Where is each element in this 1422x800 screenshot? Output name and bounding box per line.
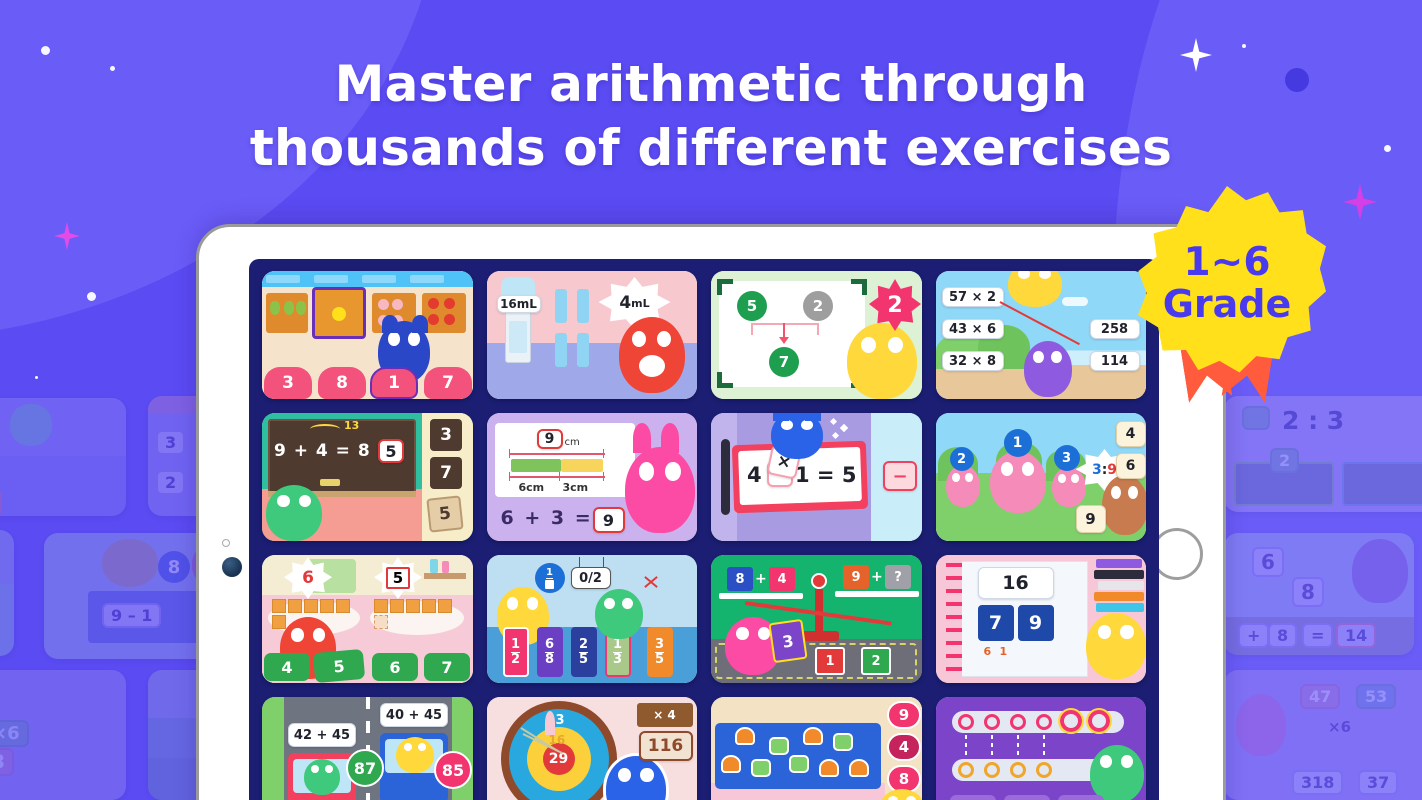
bg-card-chip: 2	[156, 470, 185, 495]
tile-5-dragged[interactable]: 5	[426, 495, 463, 532]
character-chick-glasses	[1086, 613, 1146, 679]
page-title: Master arithmetic through thousands of d…	[0, 52, 1422, 180]
exercise-card-balance[interactable]: 8 + 4 9 + ? 3 1 2	[711, 555, 922, 683]
exercise-card-multiply-fish[interactable]: 57 × 2 43 × 6 32 × 8 258 114	[936, 271, 1147, 399]
score-85: 85	[434, 751, 472, 789]
exercise-card-plate-blocks[interactable]: 6 5 4 5 6	[262, 555, 473, 683]
bg-card-chip: 3	[156, 430, 185, 455]
weight-8: 8	[727, 567, 753, 591]
tile-3[interactable]: 3	[430, 419, 462, 451]
bg-card-chip: 14	[1336, 623, 1376, 648]
ring-bottom	[958, 762, 974, 778]
exercise-card-blackboard[interactable]: 13 9 + 4 = 8 + 5 3 7 5	[262, 413, 473, 541]
badge-grade-range: 1~6	[1184, 242, 1271, 283]
weight-4: 4	[769, 567, 795, 591]
bg-card-chip	[1242, 406, 1270, 430]
coin-purse-3[interactable]: 3	[264, 367, 312, 399]
length-total-9: 9	[537, 429, 563, 449]
exercise-card-shop-coins[interactable]: 3 8 1 7	[262, 271, 473, 399]
bg-card: 6 8 + 8 = 14	[1224, 533, 1414, 655]
option-7[interactable]: 7	[424, 653, 470, 681]
marker-1: 1	[1004, 429, 1032, 457]
exercise-card-water-ml[interactable]: 16mL 4mL	[487, 271, 698, 399]
ring-bottom	[984, 762, 1000, 778]
monster-big-center	[990, 451, 1046, 513]
fraction-indicator: 1	[535, 563, 565, 593]
character-frog	[1090, 745, 1144, 800]
character-cat-purple	[1024, 341, 1072, 397]
exercise-card-rings[interactable]	[936, 697, 1147, 800]
exercise-card-darts[interactable]: 29 13 16 × 4 116	[487, 697, 698, 800]
bg-card-chip: 8	[1292, 577, 1324, 607]
badge-grade-label: Grade	[1163, 284, 1292, 324]
monster-small-left	[946, 465, 980, 507]
bottle-2-5[interactable]: 25	[571, 627, 597, 677]
bottle-3-5[interactable]: 35	[647, 627, 673, 677]
score-87: 87	[346, 749, 384, 787]
tablet-screen: 3 8 1 7 16mL 4mL	[249, 259, 1159, 800]
bond-node-7[interactable]: 7	[769, 347, 799, 377]
bg-card: 47 53 ×6 318 37	[1224, 670, 1422, 800]
bg-card: + 9 = 13 12 13	[0, 398, 126, 516]
bg-card-chip: 9 – 1	[102, 603, 161, 628]
bg-card: 2 : 3 2	[1224, 396, 1422, 512]
digit-9[interactable]: 9	[1018, 605, 1054, 641]
bg-card-chip: 47	[1300, 684, 1340, 709]
bg-card-chip: 13	[0, 490, 2, 515]
ring-top	[984, 714, 1000, 730]
character-rabbit-pink	[625, 447, 695, 533]
exercise-card-fractions[interactable]: 1 0/2 12 68 25 13	[487, 555, 698, 683]
bottle-1-2[interactable]: 12	[503, 627, 529, 677]
answer-box-5[interactable]: 5	[378, 439, 404, 463]
exercise-card-candy[interactable]: 9 4 8	[711, 697, 922, 800]
character-chick	[847, 323, 917, 399]
bg-card-chip: 8	[1268, 623, 1297, 648]
option-6[interactable]: 6	[1116, 453, 1146, 479]
problem-32x8[interactable]: 32 × 8	[942, 351, 1004, 371]
ring-bottom	[1036, 762, 1052, 778]
bg-card: 408 33×6 392 198	[0, 670, 126, 800]
answer-card-3[interactable]: 3	[768, 619, 807, 663]
multiplier-label: × 4	[637, 703, 693, 727]
character-frog-driver	[304, 759, 340, 795]
problem-40-45: 40 + 45	[380, 703, 448, 727]
operator-card-minus[interactable]: −	[883, 461, 917, 491]
character-bear-brown	[1102, 475, 1147, 535]
bond-node-2[interactable]: 2	[803, 291, 833, 321]
bg-card-chip: 6	[1252, 547, 1284, 577]
bg-card-chip: 8	[158, 551, 190, 583]
ring-top	[1036, 714, 1052, 730]
exercise-card-number-bond[interactable]: 5 2 7 2	[711, 271, 922, 399]
bg-card-chip: =	[1302, 623, 1333, 648]
option-4[interactable]: 4	[887, 733, 921, 761]
exercise-card-length[interactable]: 9 cm 6cm 3cm 6 + 3 = 9	[487, 413, 698, 541]
character-frog	[266, 485, 322, 541]
coin-purse-7[interactable]: 7	[424, 367, 472, 399]
option-6[interactable]: 6	[372, 653, 418, 681]
option-4[interactable]: 4	[264, 653, 310, 681]
marker-2: 2	[950, 447, 974, 471]
camera-icon	[222, 539, 230, 547]
bg-card-chip: 198	[0, 748, 14, 776]
bg-card-chip: +	[1238, 623, 1269, 648]
bg-card-chip: 2	[1270, 448, 1299, 473]
exercise-card-operator[interactable]: 4 1 = 5 × −	[711, 413, 922, 541]
coin-purse-8[interactable]: 8	[318, 367, 366, 399]
tile-7[interactable]: 7	[430, 457, 462, 489]
exercise-card-car-race[interactable]: 42 + 45 40 + 45 87 85	[262, 697, 473, 800]
bg-card-chip: 33×6	[0, 720, 29, 747]
grade-badge: 1~6 Grade	[1128, 186, 1326, 384]
ring-top	[958, 714, 974, 730]
bond-node-5[interactable]: 5	[737, 291, 767, 321]
answer-box-9[interactable]: 9	[593, 507, 625, 533]
problem-43x6[interactable]: 43 × 6	[942, 319, 1004, 339]
exercise-card-ratio[interactable]: 2 1 3 3:9 9 4 6	[936, 413, 1147, 541]
ring-top	[1010, 714, 1026, 730]
headline-line-1: Master arithmetic through	[335, 55, 1088, 113]
problem-57x2[interactable]: 57 × 2	[942, 287, 1004, 307]
label-16ml: 16mL	[497, 295, 541, 313]
marker-3: 3	[1054, 445, 1080, 471]
exercise-grid: 3 8 1 7 16mL 4mL	[262, 271, 1146, 800]
sensor-icon	[222, 557, 242, 577]
dartboard-bullseye: 29	[543, 743, 575, 775]
total-116: 116	[639, 731, 693, 761]
ring-top-highlight	[1060, 710, 1082, 732]
option-4[interactable]: 4	[1116, 421, 1146, 447]
bg-card-chip: 53	[1356, 684, 1396, 709]
monster-small-right	[1052, 467, 1086, 507]
bg-card	[0, 530, 14, 656]
weight-unknown: ?	[885, 565, 911, 589]
ring-bottom	[1010, 762, 1026, 778]
character-chick-driver	[396, 737, 434, 773]
progress-0-2: 0/2	[571, 567, 611, 589]
problem-42-45: 42 + 45	[288, 723, 356, 747]
total-16: 16	[978, 567, 1054, 599]
tablet-device: 3 8 1 7 16mL 4mL	[196, 224, 1226, 800]
character-chick-fishing	[1008, 271, 1062, 307]
weight-9: 9	[843, 565, 869, 589]
slot-2[interactable]: 2	[861, 647, 891, 675]
digit-7[interactable]: 7	[978, 605, 1014, 641]
option-5[interactable]: 5	[313, 649, 365, 683]
bottle-6-8[interactable]: 68	[537, 627, 563, 677]
answer-card-9[interactable]: 9	[1076, 505, 1106, 533]
coin-purse-1[interactable]: 1	[370, 367, 418, 399]
option-9[interactable]: 9	[887, 701, 921, 729]
slot-1[interactable]: 1	[815, 647, 845, 675]
character-frog	[595, 589, 643, 639]
ring-top-highlight	[1088, 710, 1110, 732]
exercise-card-number-split[interactable]: 16 7 9 6 1	[936, 555, 1147, 683]
headline-line-2: thousands of different exercises	[0, 116, 1422, 180]
bg-card-chip: 37	[1358, 770, 1398, 795]
bg-card-chip: 318	[1292, 770, 1343, 795]
